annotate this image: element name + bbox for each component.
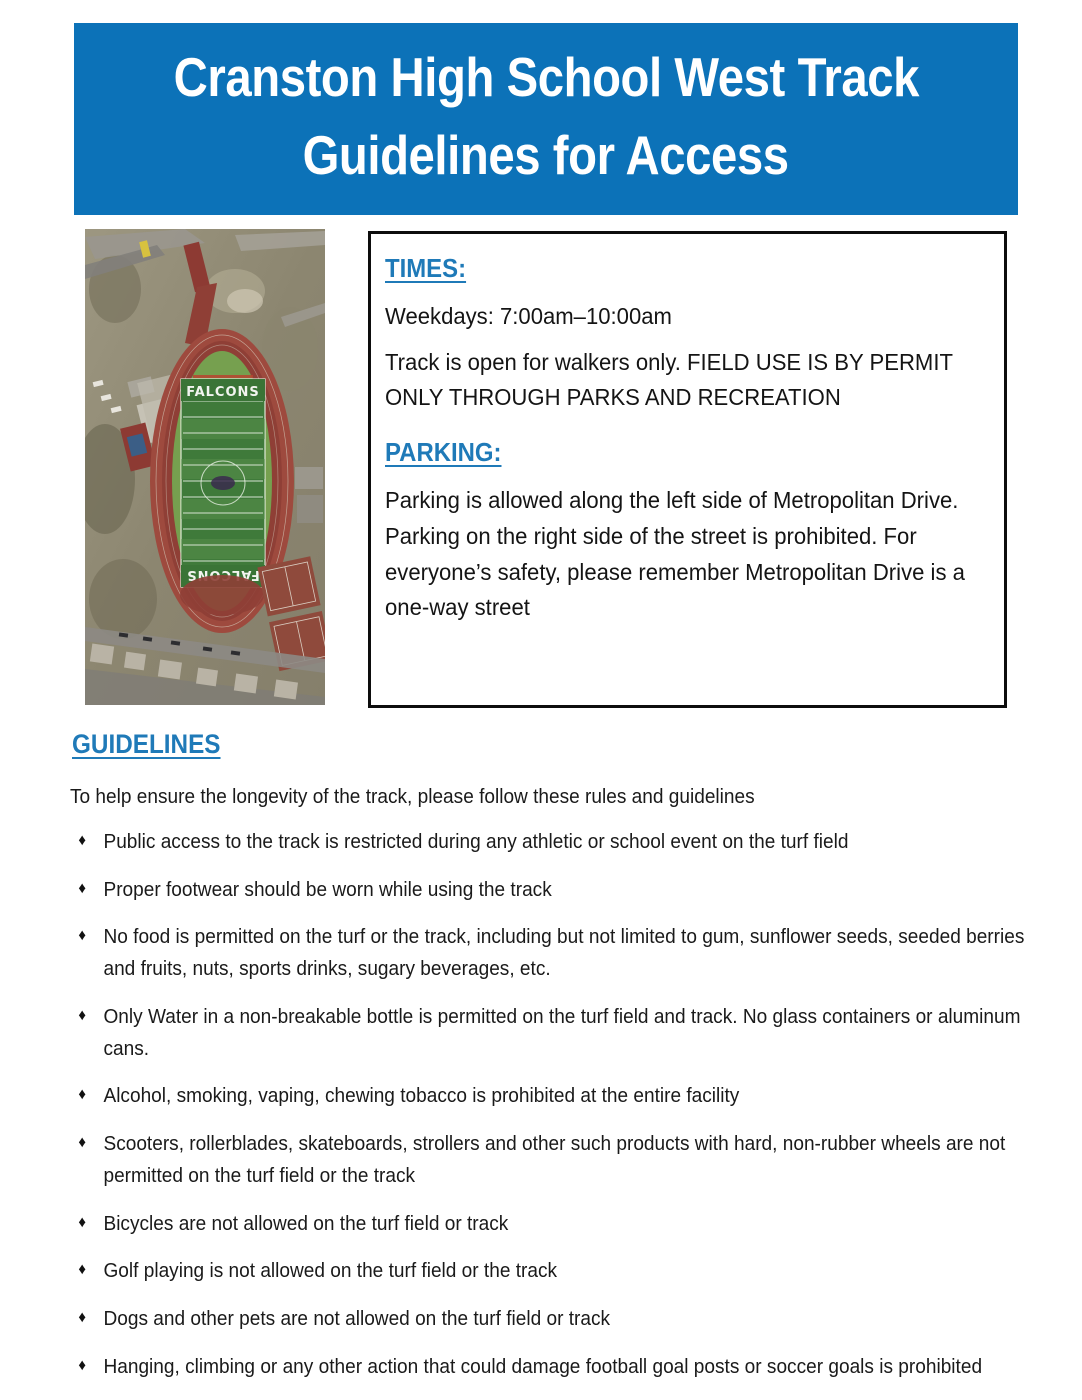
diamond-bullet-icon: ♦	[78, 825, 86, 856]
diamond-bullet-icon: ♦	[78, 873, 86, 904]
guidelines-section: To help ensure the longevity of the trac…	[70, 782, 1010, 1399]
aerial-track-photo: FALCONS FALCONS	[85, 229, 325, 705]
diamond-bullet-icon: ♦	[78, 1127, 86, 1158]
guideline-item: ♦Hanging, climbing or any other action t…	[70, 1351, 1039, 1383]
svg-text:FALCONS: FALCONS	[186, 385, 260, 400]
guidelines-heading: GUIDELINES	[72, 729, 221, 760]
guidelines-list: ♦Public access to the track is restricte…	[70, 826, 1010, 1383]
guideline-item-text: Hanging, climbing or any other action th…	[103, 1355, 982, 1378]
diamond-bullet-icon: ♦	[78, 1000, 86, 1031]
page-title-line-1: Cranston High School West Track	[173, 38, 918, 116]
times-heading: TIMES:	[385, 253, 466, 284]
diamond-bullet-icon: ♦	[78, 1302, 86, 1333]
guideline-item-text: Public access to the track is restricted…	[103, 830, 848, 853]
diamond-bullet-icon: ♦	[78, 1207, 86, 1238]
guideline-item-text: Only Water in a non-breakable bottle is …	[103, 1005, 1020, 1060]
guideline-item: ♦No food is permitted on the turf or the…	[70, 921, 1039, 985]
guideline-item-text: Alcohol, smoking, vaping, chewing tobacc…	[103, 1084, 739, 1107]
parking-section: PARKING: Parking is allowed along the le…	[385, 437, 990, 626]
guideline-item: ♦Alcohol, smoking, vaping, chewing tobac…	[70, 1080, 1039, 1112]
guideline-item: ♦Bicycles are not allowed on the turf fi…	[70, 1208, 1039, 1240]
guideline-item: ♦ Scooters, rollerblades, skateboards, s…	[70, 1128, 1039, 1192]
diamond-bullet-icon: ♦	[78, 1254, 86, 1285]
guideline-item: ♦Dogs and other pets are not allowed on …	[70, 1303, 1039, 1335]
parking-heading: PARKING:	[385, 437, 501, 468]
times-parking-box: TIMES: Weekdays: 7:00am–10:00am Track is…	[368, 231, 1007, 708]
guideline-item-text: Golf playing is not allowed on the turf …	[103, 1259, 557, 1282]
aerial-photo-graphic: FALCONS FALCONS	[85, 229, 325, 705]
guideline-item: ♦Proper footwear should be worn while us…	[70, 874, 1039, 906]
guideline-item-text: Proper footwear should be worn while usi…	[103, 878, 551, 901]
guideline-item-text: Bicycles are not allowed on the turf fie…	[103, 1212, 508, 1235]
times-usage-note: Track is open for walkers only. FIELD US…	[385, 345, 988, 416]
guideline-item: ♦Only Water in a non-breakable bottle is…	[70, 1001, 1039, 1065]
page-title-line-2: Guidelines for Access	[303, 116, 789, 194]
diamond-bullet-icon: ♦	[78, 920, 86, 951]
guideline-item-text: No food is permitted on the turf or the …	[103, 925, 1024, 980]
diamond-bullet-icon: ♦	[78, 1079, 86, 1110]
times-hours: Weekdays: 7:00am–10:00am	[385, 299, 988, 335]
diamond-bullet-icon: ♦	[78, 1350, 86, 1381]
times-section: TIMES: Weekdays: 7:00am–10:00am Track is…	[385, 253, 990, 416]
parking-details: Parking is allowed along the left side o…	[385, 483, 988, 626]
guidelines-intro: To help ensure the longevity of the trac…	[70, 782, 1005, 813]
guideline-item: ♦Golf playing is not allowed on the turf…	[70, 1255, 1039, 1287]
guideline-item-text: Dogs and other pets are not allowed on t…	[103, 1307, 610, 1330]
title-banner: Cranston High School West Track Guidelin…	[74, 23, 1018, 215]
guideline-item: ♦Public access to the track is restricte…	[70, 826, 1039, 858]
guideline-item-text: Scooters, rollerblades, skateboards, str…	[103, 1132, 1005, 1187]
